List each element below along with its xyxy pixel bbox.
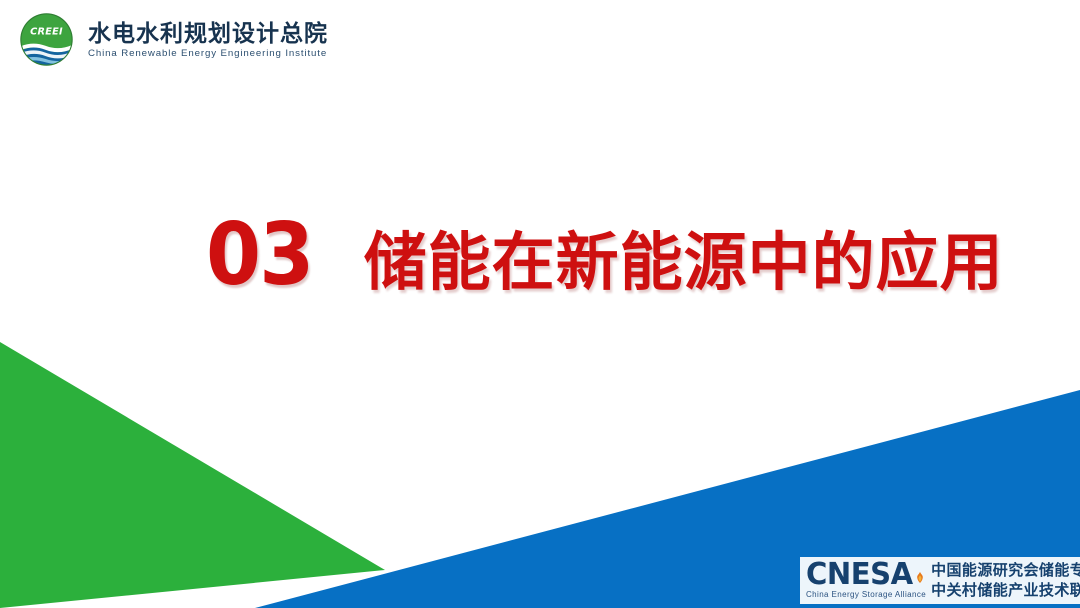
org-name-cn: 水电水利规划设计总院 (88, 21, 328, 46)
cnesa-wordmark-block: CNESA China Energy Storage Alliance (800, 561, 928, 599)
slide-title: 03 储能在新能源中的应用 (206, 212, 1004, 298)
green-triangle-shape (0, 342, 385, 608)
flame-icon (914, 572, 926, 583)
slide-canvas: CREEI 水电水利规划设计总院 China Renewable Energy … (0, 0, 1080, 608)
cnesa-chinese-block: 中国能源研究会储能专委会 中关村储能产业技术联盟 (931, 561, 1080, 599)
header: CREEI 水电水利规划设计总院 China Renewable Energy … (18, 10, 328, 68)
creei-logo-svg: CREEI (18, 11, 75, 68)
creei-circular-logo: CREEI (18, 11, 75, 68)
section-number: 03 (206, 212, 312, 298)
cnesa-line-1: 中国能源研究会储能专委会 (931, 561, 1080, 580)
logo-inner-art (18, 11, 75, 68)
background-decoration (0, 0, 1080, 608)
page-title: 储能在新能源中的应用 (364, 232, 1004, 295)
header-text-block: 水电水利规划设计总院 China Renewable Energy Engine… (88, 19, 328, 59)
cnesa-line-2: 中关村储能产业技术联盟 (931, 581, 1080, 600)
cnesa-wordmark: CNESA (806, 561, 923, 590)
cnesa-logo: CNESA China Energy Storage Alliance 中国能源… (800, 557, 1080, 604)
org-name-en: China Renewable Energy Engineering Insti… (88, 48, 333, 59)
logo-monogram: CREEI (30, 26, 63, 37)
